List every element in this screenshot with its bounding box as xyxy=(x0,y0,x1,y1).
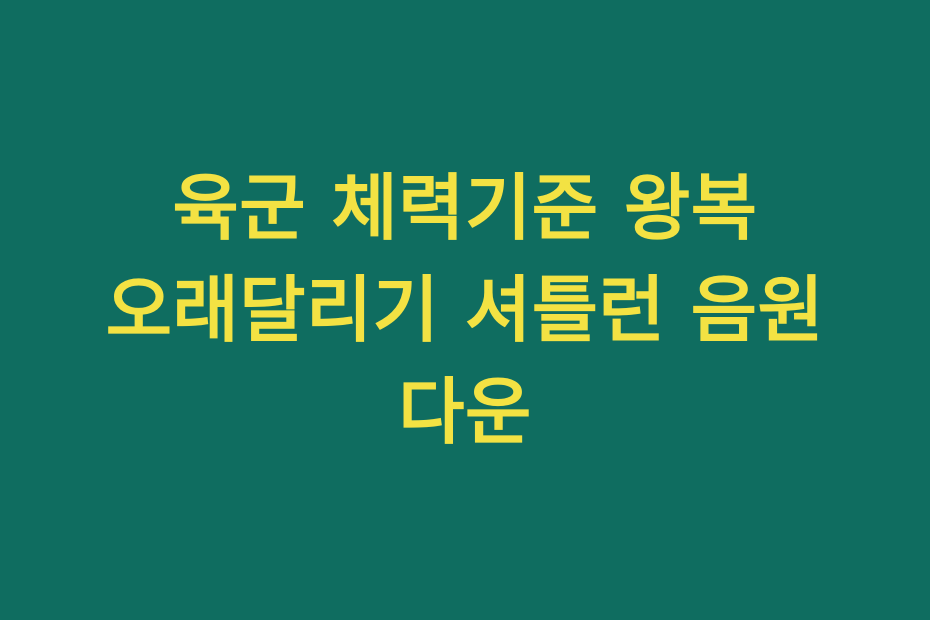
banner-card: 육군 체력기준 왕복 오래달리기 셔틀런 음원 다운 xyxy=(0,0,930,620)
headline-container: 육군 체력기준 왕복 오래달리기 셔틀런 음원 다운 xyxy=(65,157,865,464)
page-title: 육군 체력기준 왕복 오래달리기 셔틀런 음원 다운 xyxy=(65,157,865,464)
